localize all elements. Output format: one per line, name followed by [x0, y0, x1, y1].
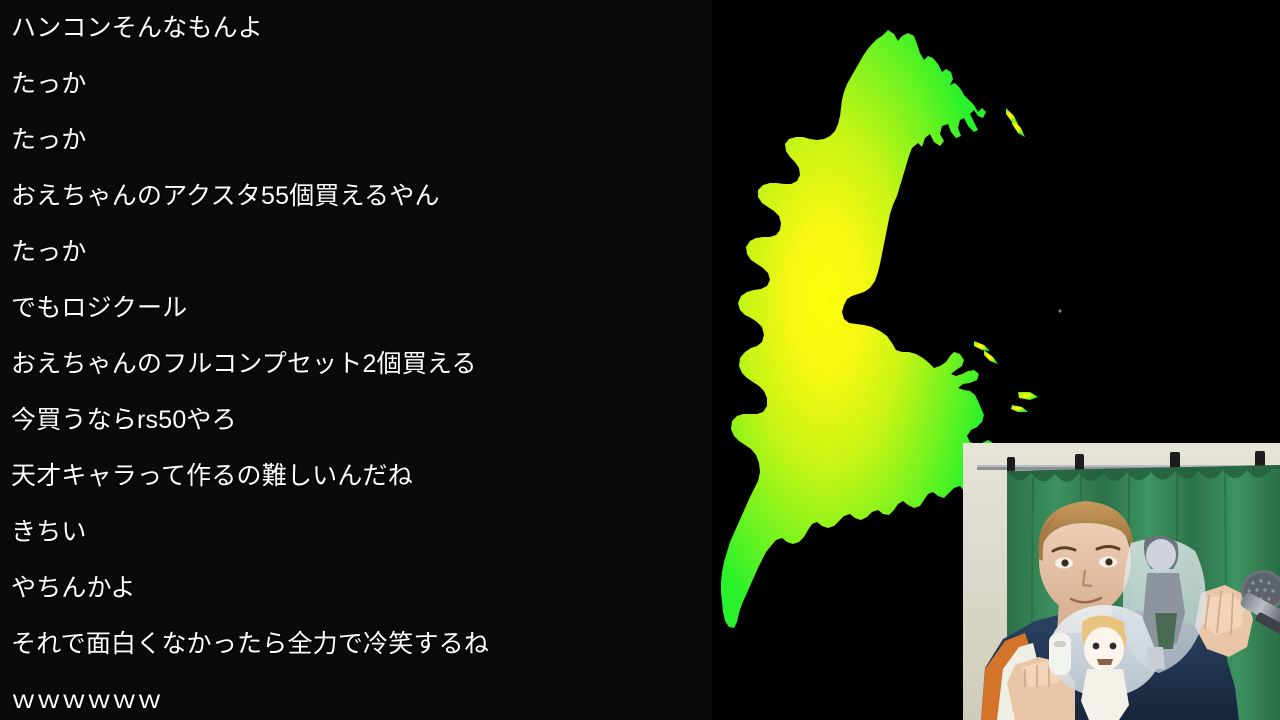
chat-message: おえちゃんのフルコンプセット2個買える — [0, 336, 712, 392]
chat-message: たっか — [0, 224, 712, 280]
chat-message-list[interactable]: ハンコンそんなもんよ たっか たっか おえちゃんのアクスタ55個買えるやん たっ… — [0, 0, 712, 720]
chat-message: 今買うならrs50やろ — [0, 392, 712, 448]
live-chat-panel[interactable]: ハンコンそんなもんよ たっか たっか おえちゃんのアクスタ55個買えるやん たっ… — [0, 0, 712, 720]
chat-message: それで面白くなかったら全力で冷笑するね — [0, 616, 712, 672]
chat-message: 天才キャラって作るの難しいんだね — [0, 448, 712, 504]
chat-message: きちい — [0, 504, 712, 560]
stream-stage: ハンコンそんなもんよ たっか たっか おえちゃんのアクスタ55個買えるやん たっ… — [0, 0, 1280, 720]
video-player-area[interactable] — [712, 0, 1280, 720]
streamer-webcam-inset[interactable] — [963, 443, 1280, 720]
chat-message: おえちゃんのアクスタ55個買えるやん — [0, 168, 712, 224]
chat-message: たっか — [0, 112, 712, 168]
chat-message: ハンコンそんなもんよ — [0, 0, 712, 56]
chat-message: でもロジクール — [0, 280, 712, 336]
chat-message: やちんかよ — [0, 560, 712, 616]
chat-message: たっか — [0, 56, 712, 112]
chat-message: ｗｗｗｗｗｗ — [0, 672, 712, 720]
